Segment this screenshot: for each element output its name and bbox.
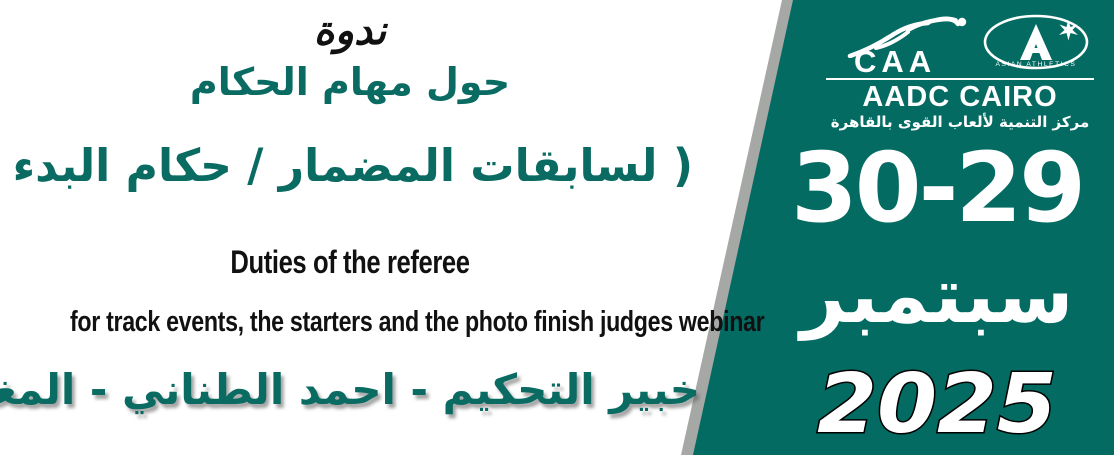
caa-aadc-logo: CAA ASIAN ATHLETICS AADC CAIRO مركز التن… xyxy=(810,14,1110,132)
right-content-column: CAA ASIAN ATHLETICS AADC CAIRO مركز التن… xyxy=(760,0,1114,455)
arabic-subtitle: حول مهام الحكام xyxy=(0,58,700,107)
logo-aadc-cairo-text: AADC CAIRO xyxy=(810,82,1110,112)
event-banner: ندوة حول مهام الحكام ( لسابقات المضمار /… xyxy=(0,0,1114,455)
logo-arabic-name: مركز التنمية لألعاب القوى بالقاهرة xyxy=(810,113,1110,132)
logo-mark: CAA ASIAN ATHLETICS xyxy=(820,14,1100,76)
english-subtitle: for track events, the starters and the p… xyxy=(70,306,630,339)
arabic-speaker-line: خبير التحكيم - احمد الطناني - المغرب xyxy=(0,360,700,421)
left-content-column: ندوة حول مهام الحكام ( لسابقات المضمار /… xyxy=(0,0,700,455)
event-month: سبتمبر xyxy=(760,248,1114,346)
event-year: 2025 xyxy=(751,362,1114,448)
event-dates: 30-29 xyxy=(760,140,1114,236)
svg-text:ASIAN ATHLETICS: ASIAN ATHLETICS xyxy=(995,61,1076,68)
arabic-title: ندوة xyxy=(0,8,700,54)
asian-athletics-emblem-icon: ASIAN ATHLETICS xyxy=(982,14,1090,72)
logo-caa-text: CAA xyxy=(854,46,936,77)
arabic-scope-line: ( لسابقات المضمار / حكام البدء / قضاة تص… xyxy=(7,132,693,200)
english-title: Duties of the referee xyxy=(70,244,630,281)
